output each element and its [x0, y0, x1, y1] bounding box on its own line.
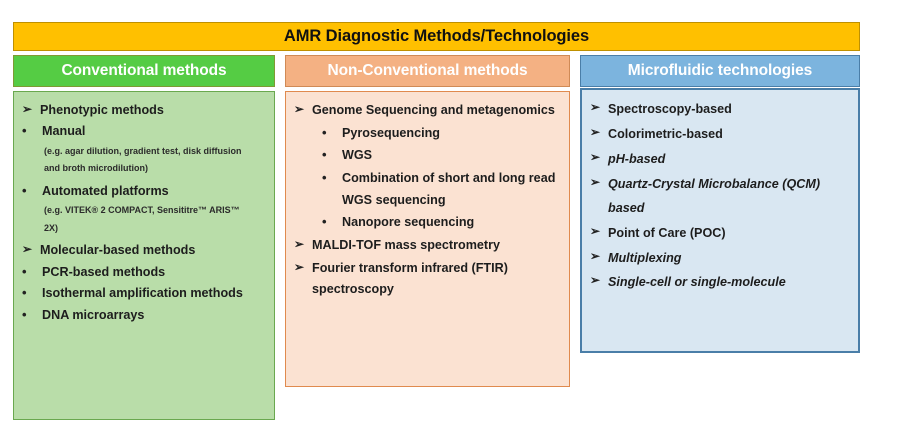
list-item: ➢ Spectroscopy-based [590, 98, 852, 122]
sublist-genome-sequencing: • Pyrosequencing • WGS • Combination of … [322, 123, 563, 234]
arrow-bullet-icon: ➢ [590, 98, 608, 117]
list-item: ➢ Multiplexing [590, 247, 852, 271]
list-item: • Pyrosequencing [322, 123, 563, 145]
list-item: • Nanopore sequencing [322, 212, 563, 234]
list-item-label: Quartz-Crystal Microbalance (QCM) based [608, 173, 852, 221]
list-item: • WGS [322, 145, 563, 167]
dot-bullet-icon: • [22, 305, 42, 325]
list-conventional: ➢ Phenotypic methods • Manual (e.g. agar… [22, 100, 268, 325]
dot-bullet-icon: • [322, 168, 342, 188]
list-item-label: PCR-based methods [42, 262, 268, 282]
list-item: • Manual [22, 121, 268, 141]
column-header-non-conventional: Non-Conventional methods [285, 55, 570, 87]
sublist-molecular: • PCR-based methods • Isothermal amplifi… [22, 262, 268, 325]
column-header-label-non-conventional: Non-Conventional methods [328, 62, 528, 80]
list-item: ➢ Genome Sequencing and metagenomics [294, 100, 563, 122]
list-item-label: Combination of short and long read WGS s… [342, 168, 563, 211]
arrow-bullet-icon: ➢ [22, 240, 40, 259]
arrow-bullet-icon: ➢ [294, 235, 312, 254]
list-item: ➢ pH-based [590, 148, 852, 172]
dot-bullet-icon: • [322, 212, 342, 232]
list-item: ➢ MALDI-TOF mass spectrometry [294, 235, 563, 257]
list-item: ➢ Point of Care (POC) [590, 222, 852, 246]
arrow-bullet-icon: ➢ [22, 100, 40, 119]
list-item-label: Manual [42, 121, 268, 141]
column-header-microfluidic: Microfluidic technologies [580, 55, 860, 87]
list-item-label: Colorimetric-based [608, 123, 852, 147]
list-item-label: Isothermal amplification methods [42, 283, 268, 303]
dot-bullet-icon: • [322, 145, 342, 165]
column-body-conventional: ➢ Phenotypic methods • Manual (e.g. agar… [13, 91, 275, 420]
list-item-label: Fourier transform infrared (FTIR) spectr… [312, 258, 563, 301]
column-header-label-conventional: Conventional methods [61, 62, 226, 80]
arrow-bullet-icon: ➢ [590, 173, 608, 192]
column-header-conventional: Conventional methods [13, 55, 275, 87]
list-item-label: Molecular-based methods [40, 240, 268, 260]
list-item-label: DNA microarrays [42, 305, 268, 325]
dot-bullet-icon: • [22, 283, 42, 303]
list-item: ➢ Molecular-based methods [22, 240, 268, 260]
example-note: (e.g. agar dilution, gradient test, disk… [44, 143, 256, 178]
list-item-label: Pyrosequencing [342, 123, 563, 145]
arrow-bullet-icon: ➢ [590, 222, 608, 241]
list-item: • Isothermal amplification methods [22, 283, 268, 303]
arrow-bullet-icon: ➢ [590, 148, 608, 167]
list-non-conventional: ➢ Genome Sequencing and metagenomics • P… [294, 100, 563, 301]
list-item-label: WGS [342, 145, 563, 167]
list-item-label: MALDI-TOF mass spectrometry [312, 235, 563, 257]
list-item: • PCR-based methods [22, 262, 268, 282]
column-header-label-microfluidic: Microfluidic technologies [628, 62, 812, 80]
list-item: ➢ Phenotypic methods [22, 100, 268, 120]
example-note: (e.g. VITEK® 2 COMPACT, Sensititre™ ARIS… [44, 202, 256, 237]
dot-bullet-icon: • [22, 262, 42, 282]
list-item: ➢ Single-cell or single-molecule [590, 271, 852, 295]
sublist-phenotypic: • Manual (e.g. agar dilution, gradient t… [22, 121, 268, 237]
list-microfluidic: ➢ Spectroscopy-based ➢ Colorimetric-base… [590, 98, 852, 295]
dot-bullet-icon: • [322, 123, 342, 143]
arrow-bullet-icon: ➢ [294, 100, 312, 119]
list-item-label: Spectroscopy-based [608, 98, 852, 122]
list-item: ➢ Quartz-Crystal Microbalance (QCM) base… [590, 173, 852, 221]
list-item: ➢ Fourier transform infrared (FTIR) spec… [294, 258, 563, 301]
column-body-non-conventional: ➢ Genome Sequencing and metagenomics • P… [285, 91, 570, 387]
list-item-label: Automated platforms [42, 181, 268, 201]
arrow-bullet-icon: ➢ [590, 247, 608, 266]
list-item: ➢ Colorimetric-based [590, 123, 852, 147]
diagram-title-banner: AMR Diagnostic Methods/Technologies [13, 22, 860, 51]
list-item: • DNA microarrays [22, 305, 268, 325]
column-body-microfluidic: ➢ Spectroscopy-based ➢ Colorimetric-base… [580, 88, 860, 353]
dot-bullet-icon: • [22, 121, 42, 141]
list-item: • Automated platforms [22, 181, 268, 201]
arrow-bullet-icon: ➢ [294, 258, 312, 277]
list-item-label: Nanopore sequencing [342, 212, 563, 234]
list-item-label: Single-cell or single-molecule [608, 271, 852, 295]
list-item-label: pH-based [608, 148, 852, 172]
arrow-bullet-icon: ➢ [590, 123, 608, 142]
list-item-label: Multiplexing [608, 247, 852, 271]
list-item-label: Genome Sequencing and metagenomics [312, 100, 563, 122]
list-item: • Combination of short and long read WGS… [322, 168, 563, 211]
list-item-label: Point of Care (POC) [608, 222, 852, 246]
diagram-title-text: AMR Diagnostic Methods/Technologies [284, 27, 589, 46]
amr-diagnostics-diagram: AMR Diagnostic Methods/Technologies Conv… [0, 0, 897, 433]
arrow-bullet-icon: ➢ [590, 271, 608, 290]
list-item-label: Phenotypic methods [40, 100, 268, 120]
dot-bullet-icon: • [22, 181, 42, 201]
